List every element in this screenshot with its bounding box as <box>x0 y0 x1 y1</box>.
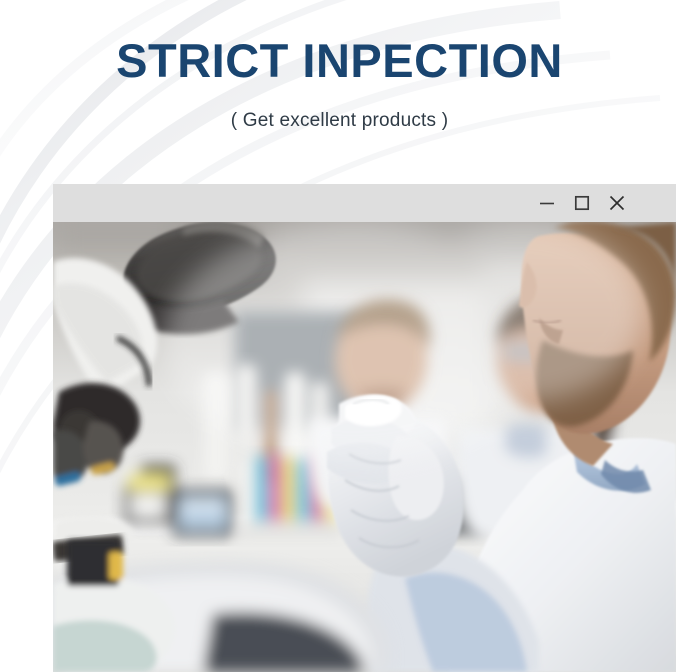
minimize-button[interactable] <box>532 190 562 216</box>
inspection-photo <box>53 222 676 672</box>
maximize-icon <box>573 194 591 212</box>
minimize-icon <box>538 194 556 212</box>
maximize-button[interactable] <box>567 190 597 216</box>
close-icon <box>607 193 627 213</box>
close-button[interactable] <box>602 190 632 216</box>
page-subtitle: ( Get excellent products ) <box>0 86 679 132</box>
photo-canvas <box>53 222 676 672</box>
banner: STRICT INPECTION ( Get excellent product… <box>0 0 679 132</box>
window-titlebar[interactable] <box>53 184 676 222</box>
page-title: STRICT INPECTION <box>0 0 679 86</box>
media-window <box>53 184 676 672</box>
